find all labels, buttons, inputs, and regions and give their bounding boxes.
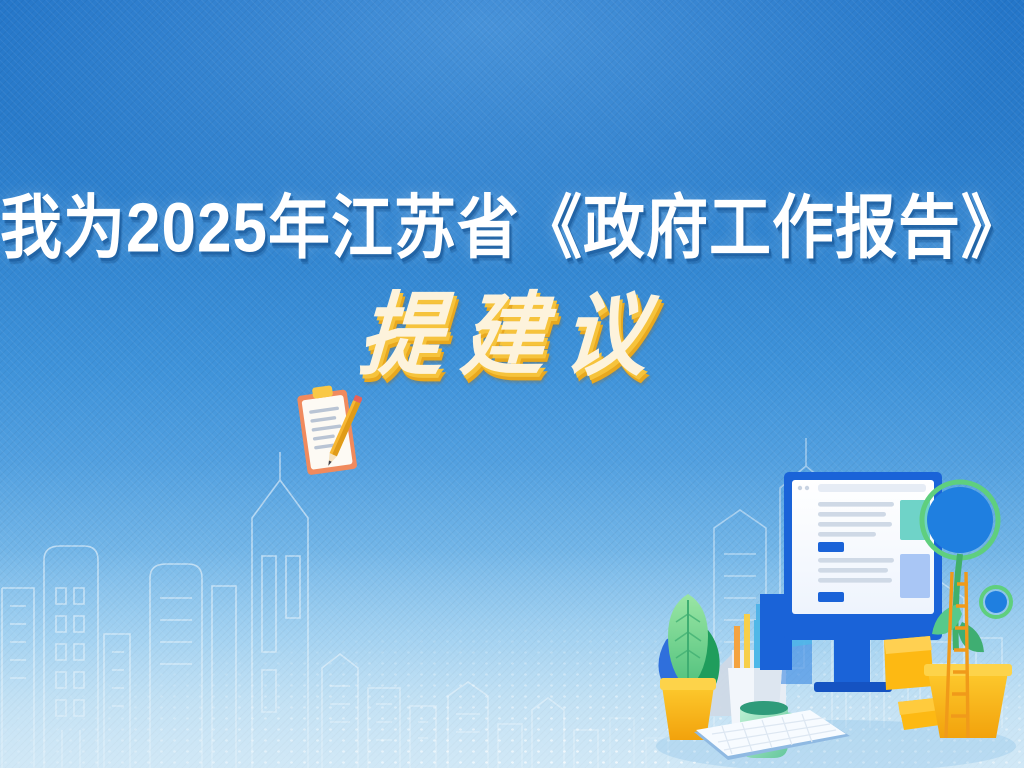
banner-title-block: 我为2025年江苏省《政府工作报告》 提建议 (0, 196, 1024, 377)
potted-plant-icon (658, 594, 719, 740)
page-subtitle: 提建议 (0, 290, 1024, 381)
desk-workspace-illustration (636, 454, 1024, 768)
page-title: 我为2025年江苏省《政府工作报告》 (0, 192, 1024, 267)
clipboard-pencil-icon (296, 382, 362, 480)
campaign-banner: 我为2025年江苏省《政府工作报告》 提建议 (0, 0, 1024, 768)
